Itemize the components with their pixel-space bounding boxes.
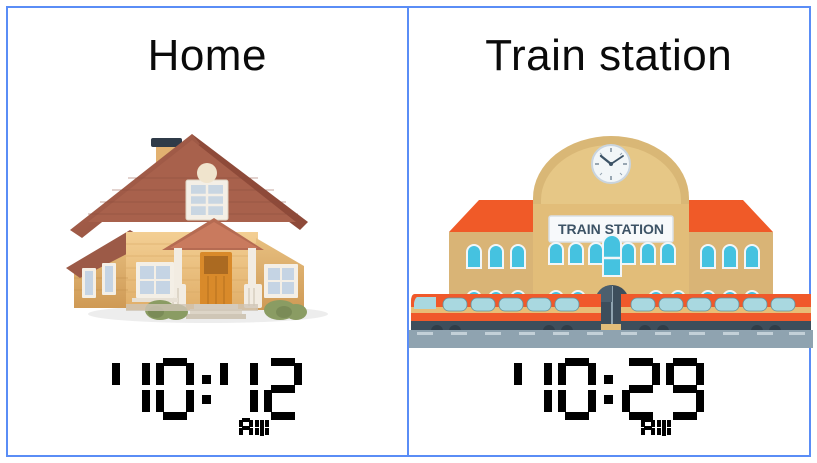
clock-digit bbox=[112, 358, 150, 420]
clock-digit bbox=[514, 358, 552, 420]
clock-meridiem-train-station bbox=[641, 418, 701, 443]
panel-title-home: Home bbox=[8, 32, 407, 80]
clock-meridiem-home bbox=[239, 418, 299, 443]
train-station-illustration: TRAIN STATION bbox=[409, 118, 810, 348]
panel-home: Home bbox=[8, 8, 409, 455]
meridiem-char bbox=[657, 418, 671, 438]
clock-colon bbox=[200, 358, 214, 420]
clock-digits-train-station bbox=[509, 358, 709, 420]
house-illustration bbox=[8, 118, 407, 348]
clock-digit bbox=[264, 358, 302, 420]
panel-title-train-station: Train station bbox=[409, 32, 810, 80]
meridiem-char bbox=[255, 418, 269, 438]
digital-clock-home bbox=[8, 352, 407, 447]
clock-digit bbox=[622, 358, 660, 420]
clock-digit bbox=[666, 358, 704, 420]
clock-digit bbox=[558, 358, 596, 420]
comparison-frame: Home bbox=[6, 6, 811, 457]
clock-digit bbox=[220, 358, 258, 420]
meridiem-char bbox=[641, 418, 655, 438]
panel-train-station: Train station bbox=[409, 8, 810, 455]
clock-digits-home bbox=[107, 358, 307, 420]
digital-clock-train-station bbox=[409, 352, 810, 447]
meridiem-char bbox=[239, 418, 253, 438]
clock-colon bbox=[602, 358, 616, 420]
clock-digit bbox=[156, 358, 194, 420]
